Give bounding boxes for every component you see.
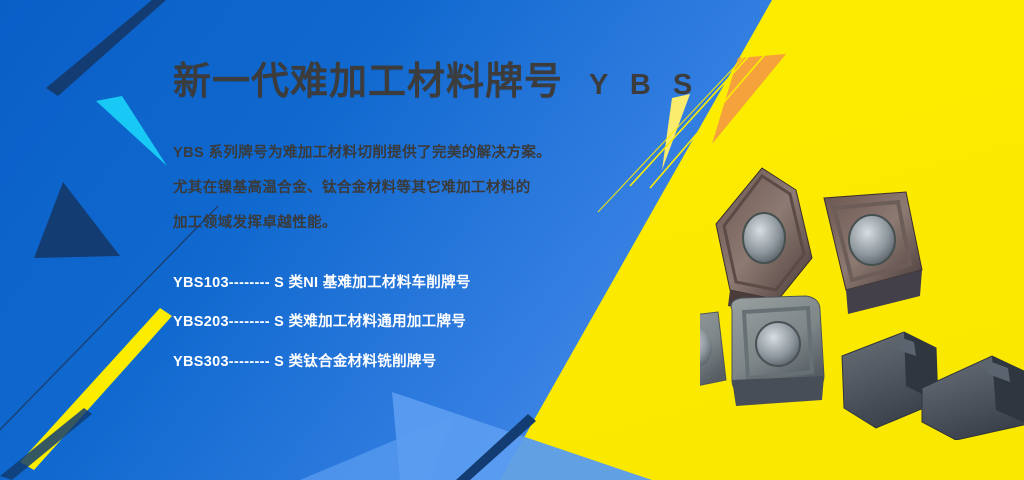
- page-title-en: Y B S: [589, 69, 699, 102]
- rect-insert-right: [922, 356, 1024, 440]
- grade-list: YBS103-------- S 类NI 基难加工材料车削牌号 YBS203--…: [173, 275, 693, 371]
- description-line: YBS 系列牌号为难加工材料切削提供了完美的解决方案。: [173, 145, 693, 162]
- description-line: 加工领域发挥卓越性能。: [173, 215, 693, 232]
- promo-banner: 新一代难加工材料牌号 Y B S YBS 系列牌号为难加工材料切削提供了完美的解…: [0, 0, 1024, 480]
- trigon-insert: [716, 168, 812, 316]
- square-insert: [700, 312, 726, 390]
- description-paragraph: YBS 系列牌号为难加工材料切削提供了完美的解决方案。 尤其在镍基高温合金、钛合…: [173, 145, 693, 233]
- grade-list-item: YBS303-------- S 类钛合金材料铣削牌号: [173, 354, 693, 371]
- grade-list-item: YBS103-------- S 类NI 基难加工材料车削牌号: [173, 275, 693, 292]
- banner-content: 新一代难加工材料牌号 Y B S YBS 系列牌号为难加工材料切削提供了完美的解…: [173, 60, 693, 393]
- inserts-svg: [700, 150, 1024, 440]
- title-row: 新一代难加工材料牌号 Y B S: [173, 60, 693, 105]
- rhombic-insert: [824, 192, 922, 314]
- page-title: 新一代难加工材料牌号: [173, 61, 563, 105]
- grade-list-item: YBS203-------- S 类难加工材料通用加工牌号: [173, 314, 693, 331]
- description-line: 尤其在镍基高温合金、钛合金材料等其它难加工材料的: [173, 180, 693, 197]
- product-insert-group: [700, 150, 1024, 440]
- round-square-insert: [731, 296, 824, 406]
